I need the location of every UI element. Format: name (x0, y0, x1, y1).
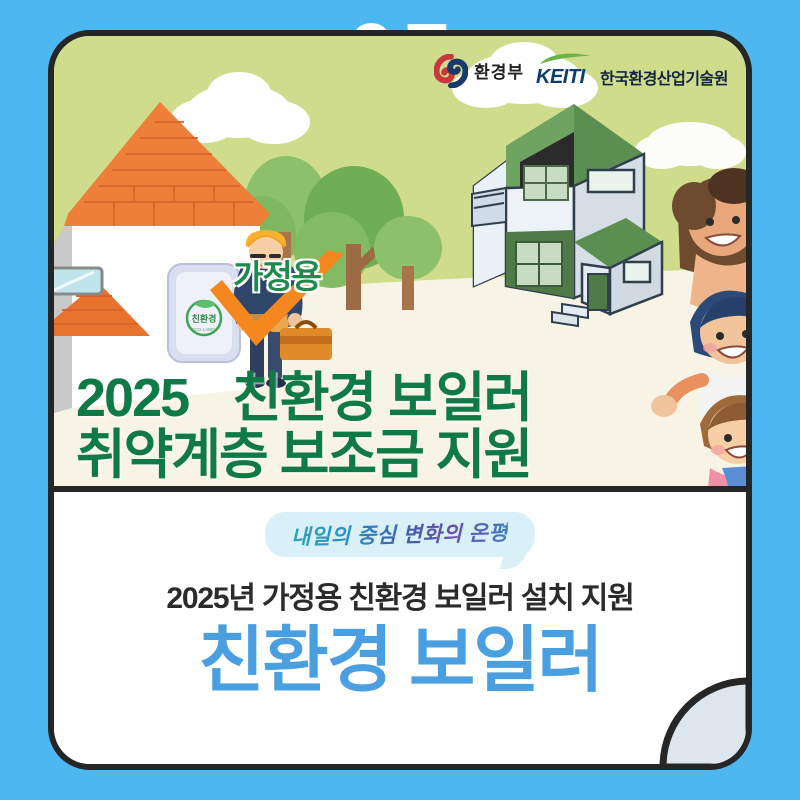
cardnews-card: 친환경 ECO-LABEL (48, 30, 752, 770)
headline-year: 2025 (76, 368, 188, 428)
illustration-panel: 친환경 ECO-LABEL (54, 36, 746, 498)
keiti-korean-label: 한국환경산업기술원 (600, 65, 728, 89)
headline-product: 친환경 보일러 (232, 368, 531, 428)
leaf-swoosh-icon (536, 52, 594, 66)
footer-subtitle: 2025년 가정용 친환경 보일러 설치 지원 (54, 573, 746, 617)
household-badge-label: 가정용 (202, 250, 352, 298)
slogan-text: 내일의 중심 변화의 온평 (291, 517, 509, 552)
headline-target: 취약계층 (76, 425, 267, 485)
footer-main-title: 친환경 보일러 (54, 623, 746, 701)
keiti-logo: KEITI 한국환경산업기술원 (536, 52, 728, 89)
keiti-mark: KEITI (536, 52, 594, 89)
government-label: 환경부 (474, 58, 524, 83)
footer-panel: 내일의 중심 변화의 온평 2025년 가정용 친환경 보일러 설치 지원 친환… (54, 486, 746, 764)
taegeuk-icon (434, 54, 468, 88)
headline-line-2: 취약계층 보조금 지원 (54, 427, 746, 484)
slogan-bubble: 내일의 중심 변화의 온평 (265, 512, 534, 557)
headline-block: 가정용 2025친환경 보일러 취약계층 보조금 지원 (54, 370, 746, 498)
household-check-badge: 가정용 (202, 250, 352, 358)
slogan-bubble-wrap: 내일의 중심 변화의 온평 (54, 512, 746, 557)
headline-line-1: 2025친환경 보일러 (54, 370, 746, 427)
page-fold-corner (657, 675, 749, 767)
headline-subsidy: 보조금 지원 (280, 425, 531, 485)
government-logo: 환경부 (434, 54, 524, 88)
logo-row: 환경부 KEITI 한국환경산업기술원 (434, 52, 728, 89)
keiti-wordmark: KEITI (536, 66, 585, 88)
